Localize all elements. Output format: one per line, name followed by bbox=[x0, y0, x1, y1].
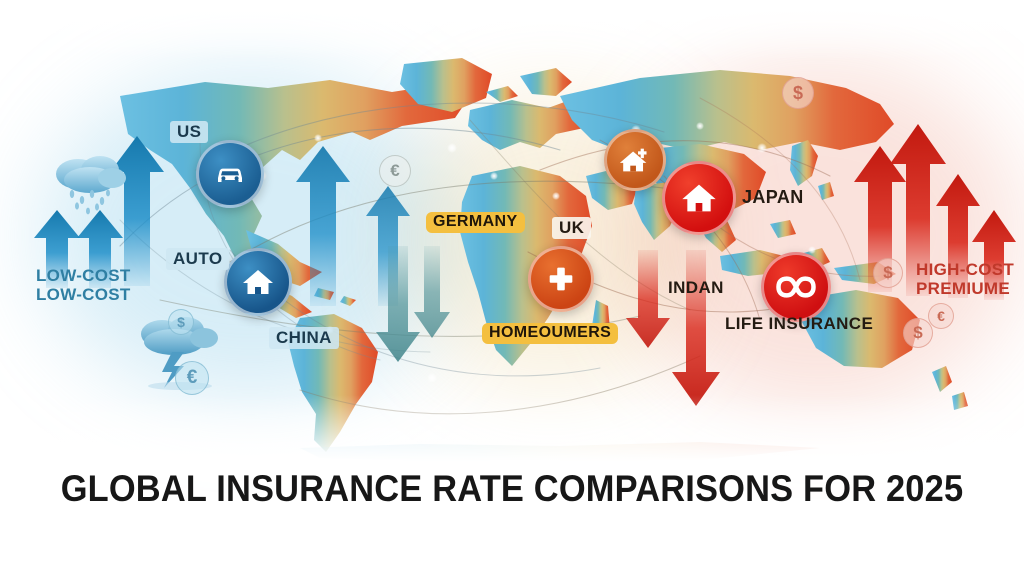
car-icon bbox=[212, 156, 248, 192]
house-icon-badge-china[interactable] bbox=[224, 248, 292, 316]
infinity-icon-badge[interactable] bbox=[761, 252, 831, 322]
label-uk: UK bbox=[552, 217, 591, 239]
world-map bbox=[0, 0, 1024, 470]
page-title: GLOBAL INSURANCE RATE COMPARISONS FOR 20… bbox=[36, 468, 988, 510]
label-us: US bbox=[170, 121, 208, 143]
label-indian: INDAN bbox=[661, 277, 731, 299]
house-icon bbox=[679, 178, 719, 218]
high-cost-caption: HIGH-COST PREMIUME bbox=[916, 260, 1014, 298]
low-cost-line-2: LOW-COST bbox=[36, 285, 131, 304]
medical-cross-icon bbox=[544, 262, 578, 296]
label-china: CHINA bbox=[269, 327, 339, 349]
world-map-svg bbox=[0, 0, 1024, 470]
infographic-canvas: $ € € $ $ $ € bbox=[0, 0, 1024, 576]
car-icon-badge[interactable] bbox=[196, 140, 264, 208]
high-cost-line-2: PREMIUME bbox=[916, 279, 1014, 298]
label-homeowners: HOMEOUMERS bbox=[482, 323, 618, 344]
high-cost-line-1: HIGH-COST bbox=[916, 260, 1014, 279]
infinity-icon bbox=[776, 267, 816, 307]
house-icon-badge-japan[interactable] bbox=[662, 161, 736, 235]
label-life-insurance: LIFE INSURANCE bbox=[718, 313, 880, 335]
label-auto: AUTO bbox=[166, 248, 229, 270]
house-plus-icon bbox=[618, 143, 652, 177]
low-cost-caption: LOW-COST LOW-COST bbox=[36, 266, 131, 304]
house-plus-icon-badge[interactable] bbox=[604, 129, 666, 191]
house-icon bbox=[240, 264, 276, 300]
low-cost-line-1: LOW-COST bbox=[36, 266, 131, 285]
label-germany: GERMANY bbox=[426, 212, 525, 233]
medical-cross-icon-badge[interactable] bbox=[528, 246, 594, 312]
label-japan: JAPAN bbox=[735, 186, 811, 209]
